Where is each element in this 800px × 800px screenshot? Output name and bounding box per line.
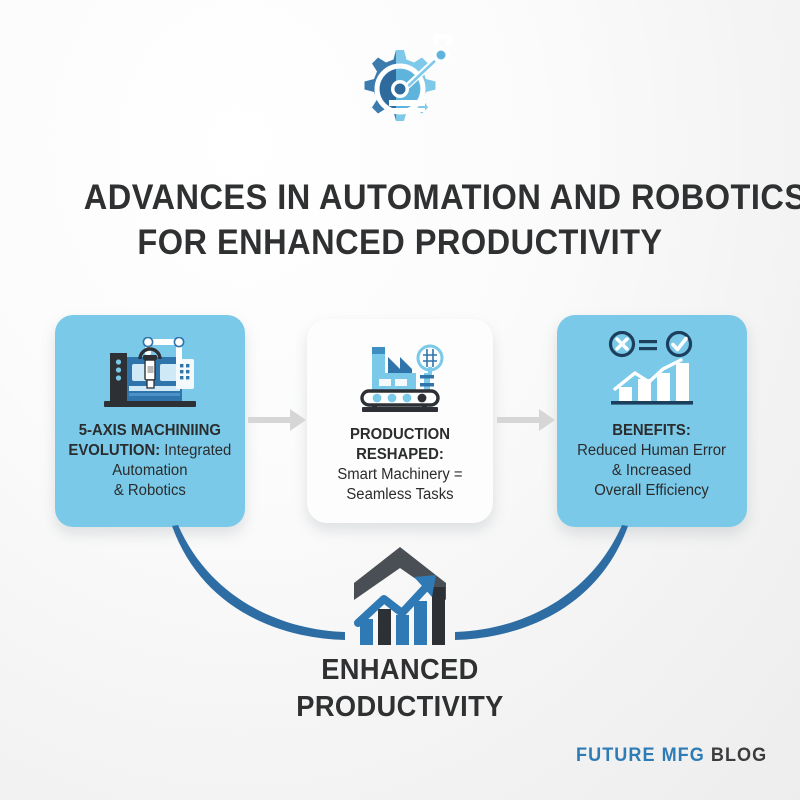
bottom-label-line1: ENHANCED <box>24 652 776 689</box>
cnc-machine-icon <box>98 331 202 409</box>
card-line-1: EVOLUTION: Integrated <box>69 441 232 461</box>
footer-brand-primary: FUTURE MFG <box>576 745 705 766</box>
page-title: ADVANCES IN AUTOMATION AND ROBOTICS FOR … <box>84 176 716 266</box>
bottom-icon-wrap <box>0 543 800 647</box>
card-line-1: Smart Machinery = <box>320 465 479 485</box>
card-text: BENEFITS: Reduced Human Error & Increase… <box>578 421 727 502</box>
page-title-line2: FOR ENHANCED PRODUCTIVITY <box>84 221 716 266</box>
arrow-card1-to-card2 <box>248 407 308 438</box>
factory-conveyor-icon <box>348 335 452 413</box>
page-title-line1: ADVANCES IN AUTOMATION AND ROBOTICS <box>84 176 716 221</box>
card-line-2: Seamless Tasks <box>320 485 479 505</box>
gear-robot-arm-icon <box>341 34 459 138</box>
card-5-axis-machining-evolution[interactable]: 5-AXIS MACHINIING EVOLUTION: Integrated … <box>55 315 245 527</box>
cards-row: 5-AXIS MACHINIING EVOLUTION: Integrated … <box>0 315 800 527</box>
card-heading: 5-AXIS MACHINIING <box>69 421 232 441</box>
card-benefits[interactable]: BENEFITS: Reduced Human Error & Increase… <box>557 315 747 527</box>
footer-brand: FUTURE MFG BLOG <box>576 745 767 767</box>
header-icon-wrap <box>0 34 800 138</box>
arrow-card2-to-card3 <box>497 407 557 438</box>
card-line-3: & Robotics <box>69 481 232 501</box>
card-text: 5-AXIS MACHINIING EVOLUTION: Integrated … <box>69 421 232 502</box>
footer-brand-secondary: BLOG <box>711 745 767 766</box>
growth-bar-chart-arrow-icon <box>344 543 456 647</box>
card-line-3: Overall Efficiency <box>578 481 727 501</box>
card-line-2: & Increased <box>578 461 727 481</box>
error-to-success-chart-icon <box>601 331 703 409</box>
card-production-reshaped[interactable]: PRODUCTION RESHAPED: Smart Machinery = S… <box>307 319 493 523</box>
bottom-label-line2: PRODUCTIVITY <box>24 689 776 726</box>
card-text: PRODUCTION RESHAPED: Smart Machinery = S… <box>320 425 479 506</box>
card-heading: BENEFITS: <box>578 421 727 441</box>
bottom-label: ENHANCED PRODUCTIVITY <box>24 652 776 726</box>
card-heading: PRODUCTION RESHAPED: <box>320 425 479 465</box>
infographic-canvas: ADVANCES IN AUTOMATION AND ROBOTICS FOR … <box>0 0 800 800</box>
card-line-2: Automation <box>69 461 232 481</box>
card-line-1: Reduced Human Error <box>578 441 727 461</box>
